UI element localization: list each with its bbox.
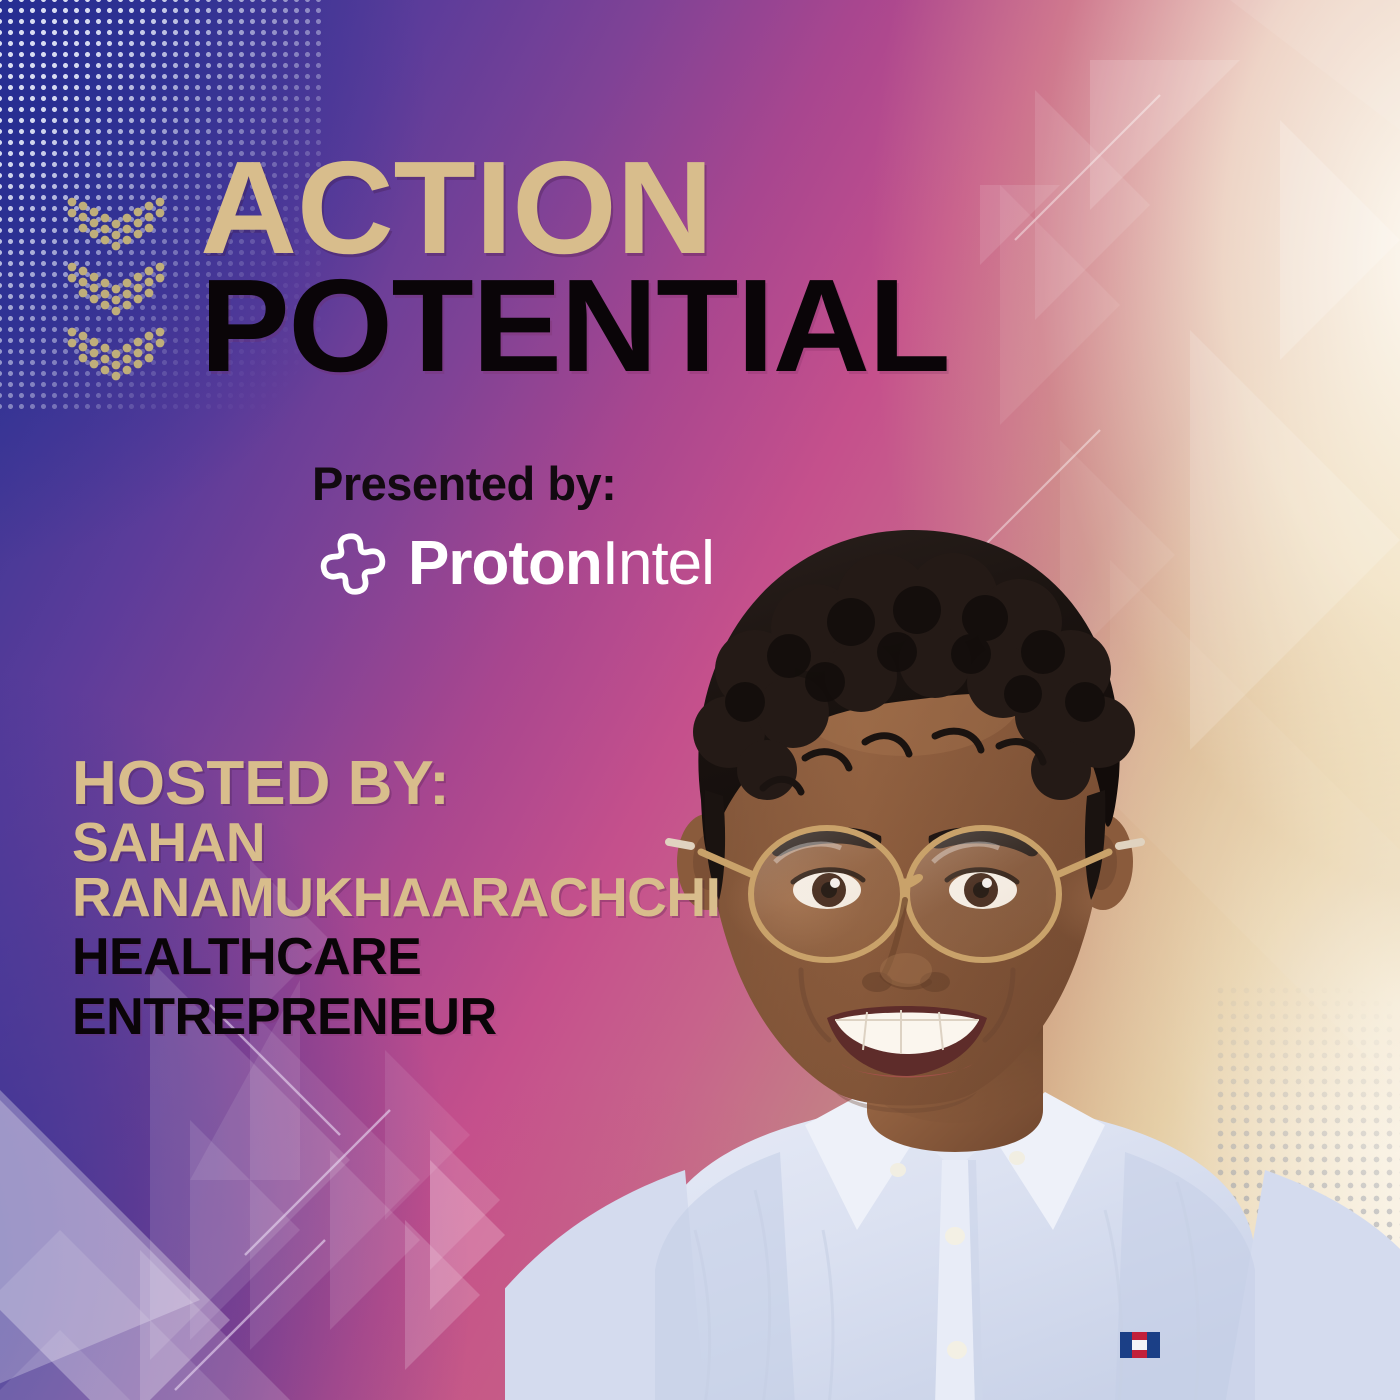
title-line-potential: POTENTIAL (200, 273, 949, 379)
gold-chevron-dots-decor (62, 196, 182, 396)
podcast-cover-art: ACTION POTENTIAL Presented by: ProtonInt… (0, 0, 1400, 1400)
show-title-block: ACTION POTENTIAL (200, 155, 934, 378)
host-name-line-2: RANAMUKHAARACHCHI (72, 871, 720, 924)
host-name-line-1: SAHAN (72, 816, 720, 869)
title-line-action: ACTION (200, 155, 949, 261)
sponsor-name-bold: Proton (408, 529, 602, 598)
sponsor-name-light: Intel (602, 529, 714, 598)
host-role-line-1: HEALTHCARE (72, 931, 720, 983)
presented-by-block: Presented by: ProtonIntel (312, 460, 714, 605)
sponsor-logo[interactable]: ProtonIntel (312, 523, 714, 605)
host-info-block: HOSTED BY: SAHAN RANAMUKHAARACHCHI HEALT… (72, 755, 720, 1043)
sponsor-name: ProtonIntel (408, 533, 714, 595)
shirt-brand-flag (1120, 1332, 1160, 1358)
presented-by-label: Presented by: (312, 460, 714, 507)
rounded-cross-icon (312, 523, 394, 605)
host-role-line-2: ENTREPRENEUR (72, 991, 720, 1043)
hosted-by-label: HOSTED BY: (72, 755, 720, 814)
